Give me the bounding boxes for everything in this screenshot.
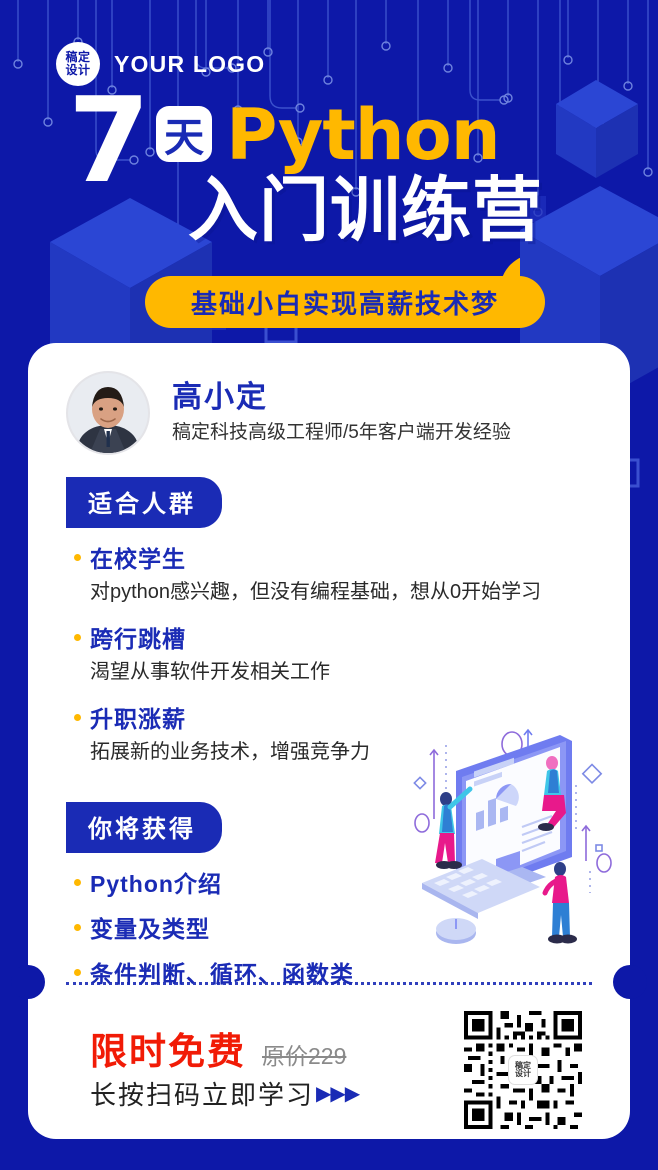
bullet-dot-icon xyxy=(74,969,81,976)
course-duration-number: 7 xyxy=(68,94,146,186)
bullet-dot-icon xyxy=(74,879,81,886)
title-line-1: 7 天 Python xyxy=(0,96,658,178)
scan-instruction-row: 长按扫码立即学习 ▶▶▶ xyxy=(90,1075,359,1112)
gains-section-heading: 你将获得 xyxy=(66,802,222,853)
qr-logo-line2: 设计 xyxy=(515,1070,531,1078)
bullet-dot-icon xyxy=(74,634,81,641)
audience-item-desc: 对python感兴趣，但没有编程基础，想从0开始学习 xyxy=(90,578,630,607)
audience-item-title: 升职涨薪 xyxy=(90,700,186,734)
ticket-notch-right xyxy=(613,965,647,999)
original-price: 原价229 xyxy=(262,1037,346,1071)
bullet-dot-icon xyxy=(74,924,81,931)
bullet-dot-icon xyxy=(74,554,81,561)
audience-section-heading: 适合人群 xyxy=(66,477,222,528)
free-label: 限时免费 xyxy=(90,1021,246,1075)
bullet-dot-icon xyxy=(74,714,81,721)
poster-canvas: 稿定 设计 YOUR LOGO 7 天 Python 入门训练营 基础小白实现高… xyxy=(0,0,658,1170)
list-item: 跨行跳槽 渴望从事软件开发相关工作 xyxy=(74,620,630,687)
gains-item-label: Python介绍 xyxy=(90,865,222,899)
price-row: 限时免费 原价229 xyxy=(90,1021,346,1075)
instructor-avatar xyxy=(66,371,150,455)
workspace-illustration xyxy=(400,711,612,961)
qr-code[interactable]: 稿定 设计 xyxy=(464,1011,582,1129)
title-block: 7 天 Python 入门训练营 xyxy=(0,96,658,248)
audience-item-title: 在校学生 xyxy=(90,540,186,574)
person-right xyxy=(545,862,577,944)
arrows-icon: ▶▶▶ xyxy=(316,1081,359,1106)
instructor-row: 高小定 稿定科技高级工程师/5年客户端开发经验 xyxy=(28,343,630,455)
qr-center-logo: 稿定 设计 xyxy=(508,1055,538,1085)
gains-item-label: 变量及类型 xyxy=(90,910,210,944)
instructor-name: 高小定 xyxy=(172,379,511,417)
instructor-title: 稿定科技高级工程师/5年客户端开发经验 xyxy=(172,419,511,448)
subtitle-badge: 基础小白实现高薪技术梦 xyxy=(145,276,545,328)
day-unit-box: 天 xyxy=(156,106,212,162)
list-item: 在校学生 对python感兴趣，但没有编程基础，想从0开始学习 xyxy=(74,540,630,607)
ticket-notch-left xyxy=(11,965,45,999)
audience-item-title-wrap: 在校学生 xyxy=(74,540,630,574)
python-word: Python xyxy=(226,94,499,176)
dotted-divider xyxy=(66,982,592,985)
audience-item-desc: 渴望从事软件开发相关工作 xyxy=(90,658,630,687)
audience-item-title: 跨行跳槽 xyxy=(90,620,186,654)
content-card: 高小定 稿定科技高级工程师/5年客户端开发经验 适合人群 在校学生 对pytho… xyxy=(28,343,630,1139)
audience-item-title-wrap: 跨行跳槽 xyxy=(74,620,630,654)
instructor-info: 高小定 稿定科技高级工程师/5年客户端开发经验 xyxy=(172,379,511,447)
scan-instruction-text: 长按扫码立即学习 xyxy=(90,1075,314,1112)
